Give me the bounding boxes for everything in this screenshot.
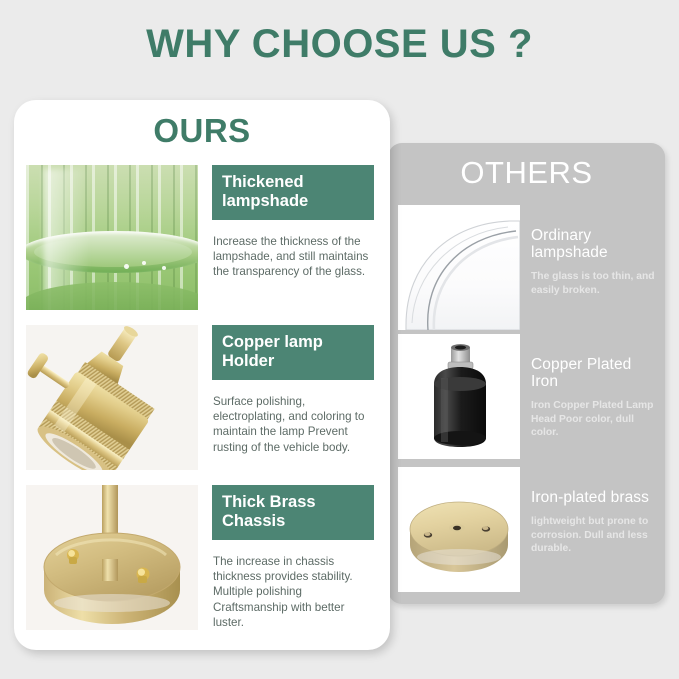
ours-feature-row: Thick Brass Chassis The increase in chas… — [26, 485, 374, 635]
iron-plated-brass-disc-photo — [398, 467, 520, 592]
ours-feature-text: Thick Brass Chassis The increase in chas… — [212, 485, 374, 630]
ours-feature-title: Thick Brass Chassis — [212, 485, 374, 540]
others-feature-text: Ordinary lampshade The glass is too thin… — [531, 227, 656, 297]
others-feature-description: lightweight but prone to corrosion. Dull… — [531, 515, 656, 556]
ours-feature-description: Increase the thickness of the lampshade,… — [212, 234, 374, 280]
page-title: WHY CHOOSE US ? — [0, 22, 679, 67]
others-feature-text: Iron-plated brass lightweight but prone … — [531, 489, 656, 556]
others-feature-title: Iron-plated brass — [531, 489, 656, 506]
others-heading: OTHERS — [388, 155, 665, 191]
ours-feature-text: Thickened lampshade Increase the thickne… — [212, 165, 374, 280]
others-feature-row: Ordinary lampshade The glass is too thin… — [398, 205, 656, 330]
green-ribbed-glass-lampshade-photo — [26, 165, 198, 310]
clear-thin-glass-dome-photo — [398, 205, 520, 330]
others-feature-row: Iron-plated brass lightweight but prone … — [398, 467, 656, 592]
others-feature-title: Ordinary lampshade — [531, 227, 656, 261]
thick-brass-chassis-photo — [26, 485, 198, 630]
black-copper-plated-iron-socket-photo — [398, 334, 520, 459]
others-feature-row: Copper Plated Iron Iron Copper Plated La… — [398, 334, 656, 459]
ours-feature-description: Surface polishing, electroplating, and c… — [212, 394, 374, 455]
others-feature-description: The glass is too thin, and easily broken… — [531, 270, 656, 297]
others-feature-text: Copper Plated Iron Iron Copper Plated La… — [531, 356, 656, 440]
infographic-canvas: WHY CHOOSE US ? OTHERS — [0, 0, 679, 679]
ours-heading: OURS — [14, 112, 390, 150]
ours-feature-text: Copper lamp Holder Surface polishing, el… — [212, 325, 374, 455]
others-feature-description: Iron Copper Plated Lamp Head Poor color,… — [531, 399, 656, 440]
ours-feature-row: Thickened lampshade Increase the thickne… — [26, 165, 374, 310]
others-feature-title: Copper Plated Iron — [531, 356, 656, 390]
ours-feature-description: The increase in chassis thickness provid… — [212, 554, 374, 630]
brass-lamp-holder-photo — [26, 325, 198, 470]
ours-feature-title: Thickened lampshade — [212, 165, 374, 220]
ours-feature-row: Copper lamp Holder Surface polishing, el… — [26, 325, 374, 470]
ours-feature-title: Copper lamp Holder — [212, 325, 374, 380]
